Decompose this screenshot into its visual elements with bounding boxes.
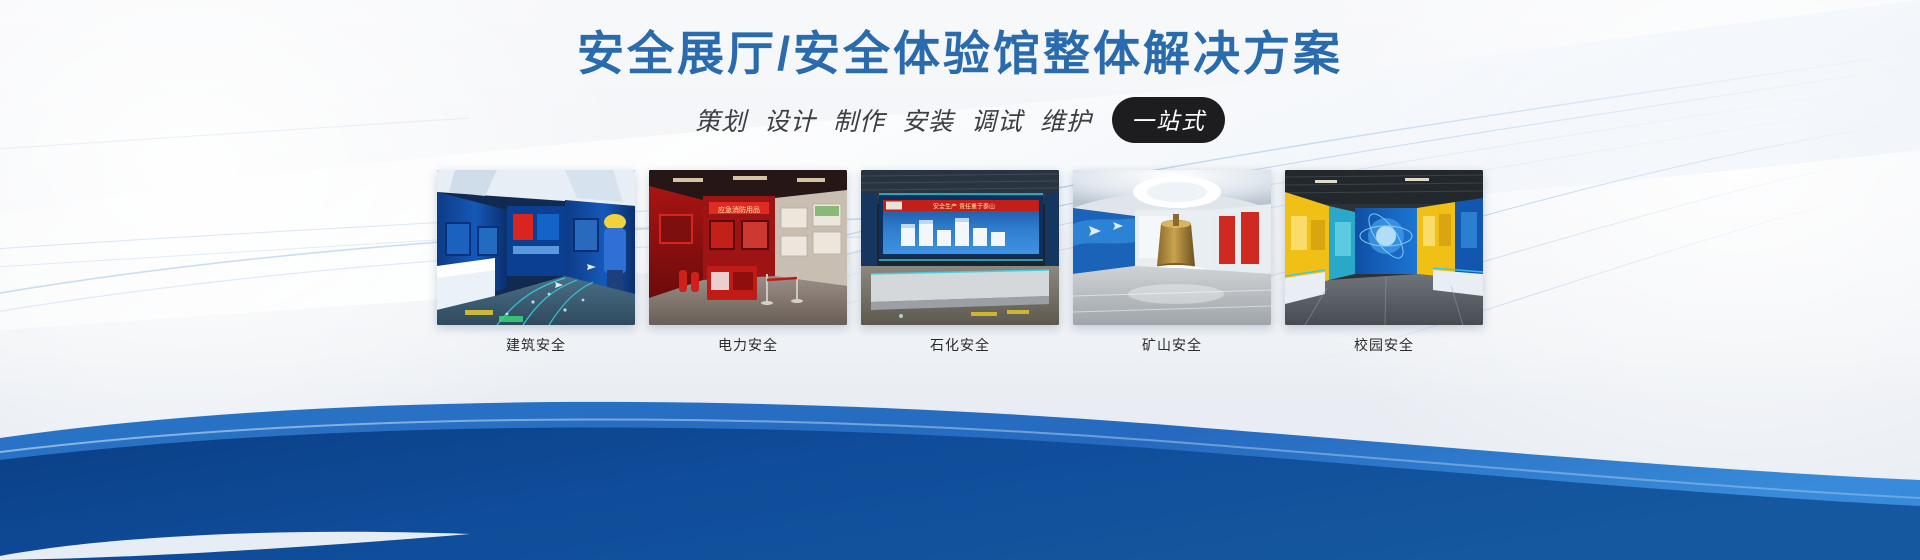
scene-card-construction[interactable]: 建筑安全 bbox=[437, 170, 635, 352]
construction-hall-image bbox=[437, 170, 635, 325]
scene-thumbnail-construction[interactable] bbox=[437, 170, 635, 325]
service-step-installation: 安装 bbox=[902, 102, 954, 138]
scene-card-label: 电力安全 bbox=[718, 338, 778, 352]
scene-card-campus[interactable]: 校园安全 bbox=[1285, 170, 1483, 352]
service-step-debugging: 调试 bbox=[971, 102, 1023, 138]
scene-thumbnail-mining[interactable] bbox=[1073, 170, 1271, 325]
page-title: 安全展厅/安全体验馆整体解决方案 bbox=[577, 26, 1343, 81]
petrochemical-hall-image: 安全生产 责任重于泰山 bbox=[861, 170, 1059, 325]
service-step-design: 设计 bbox=[764, 102, 816, 138]
scene-card-label: 校园安全 bbox=[1354, 338, 1414, 352]
scene-thumbnail-electric-power[interactable]: 应急消防用品 bbox=[649, 170, 847, 325]
scene-card-electric-power[interactable]: 应急消防用品 bbox=[649, 170, 847, 352]
svg-text:安全生产 责任重于泰山: 安全生产 责任重于泰山 bbox=[933, 203, 995, 211]
scene-card-label: 石化安全 bbox=[930, 338, 990, 352]
scene-card-petrochemical[interactable]: 安全生产 责任重于泰山 bbox=[861, 170, 1059, 352]
service-step-maintenance: 维护 bbox=[1040, 102, 1092, 138]
service-step-planning: 策划 bbox=[695, 102, 747, 138]
service-step-production: 制作 bbox=[833, 102, 885, 138]
scene-card-label: 矿山安全 bbox=[1142, 338, 1202, 352]
electric-power-hall-image: 应急消防用品 bbox=[649, 170, 847, 325]
scene-thumbnail-petrochemical[interactable]: 安全生产 责任重于泰山 bbox=[861, 170, 1059, 325]
campus-hall-image bbox=[1285, 170, 1483, 325]
scene-card-mining[interactable]: 矿山安全 bbox=[1073, 170, 1271, 352]
banner-content: 安全展厅/安全体验馆整体解决方案 策划 设计 制作 安装 调试 维护 一站式 bbox=[0, 0, 1920, 560]
mining-hall-image bbox=[1073, 170, 1271, 325]
one-stop-badge: 一站式 bbox=[1112, 97, 1225, 143]
scene-card-label: 建筑安全 bbox=[506, 338, 566, 352]
promo-banner: 安全展厅/安全体验馆整体解决方案 策划 设计 制作 安装 调试 维护 一站式 bbox=[0, 0, 1920, 560]
svg-text:应急消防用品: 应急消防用品 bbox=[718, 205, 760, 214]
scene-thumbnail-campus[interactable] bbox=[1285, 170, 1483, 325]
service-steps: 策划 设计 制作 安装 调试 维护 一站式 bbox=[695, 97, 1225, 143]
scene-card-list: 建筑安全 bbox=[437, 170, 1483, 352]
